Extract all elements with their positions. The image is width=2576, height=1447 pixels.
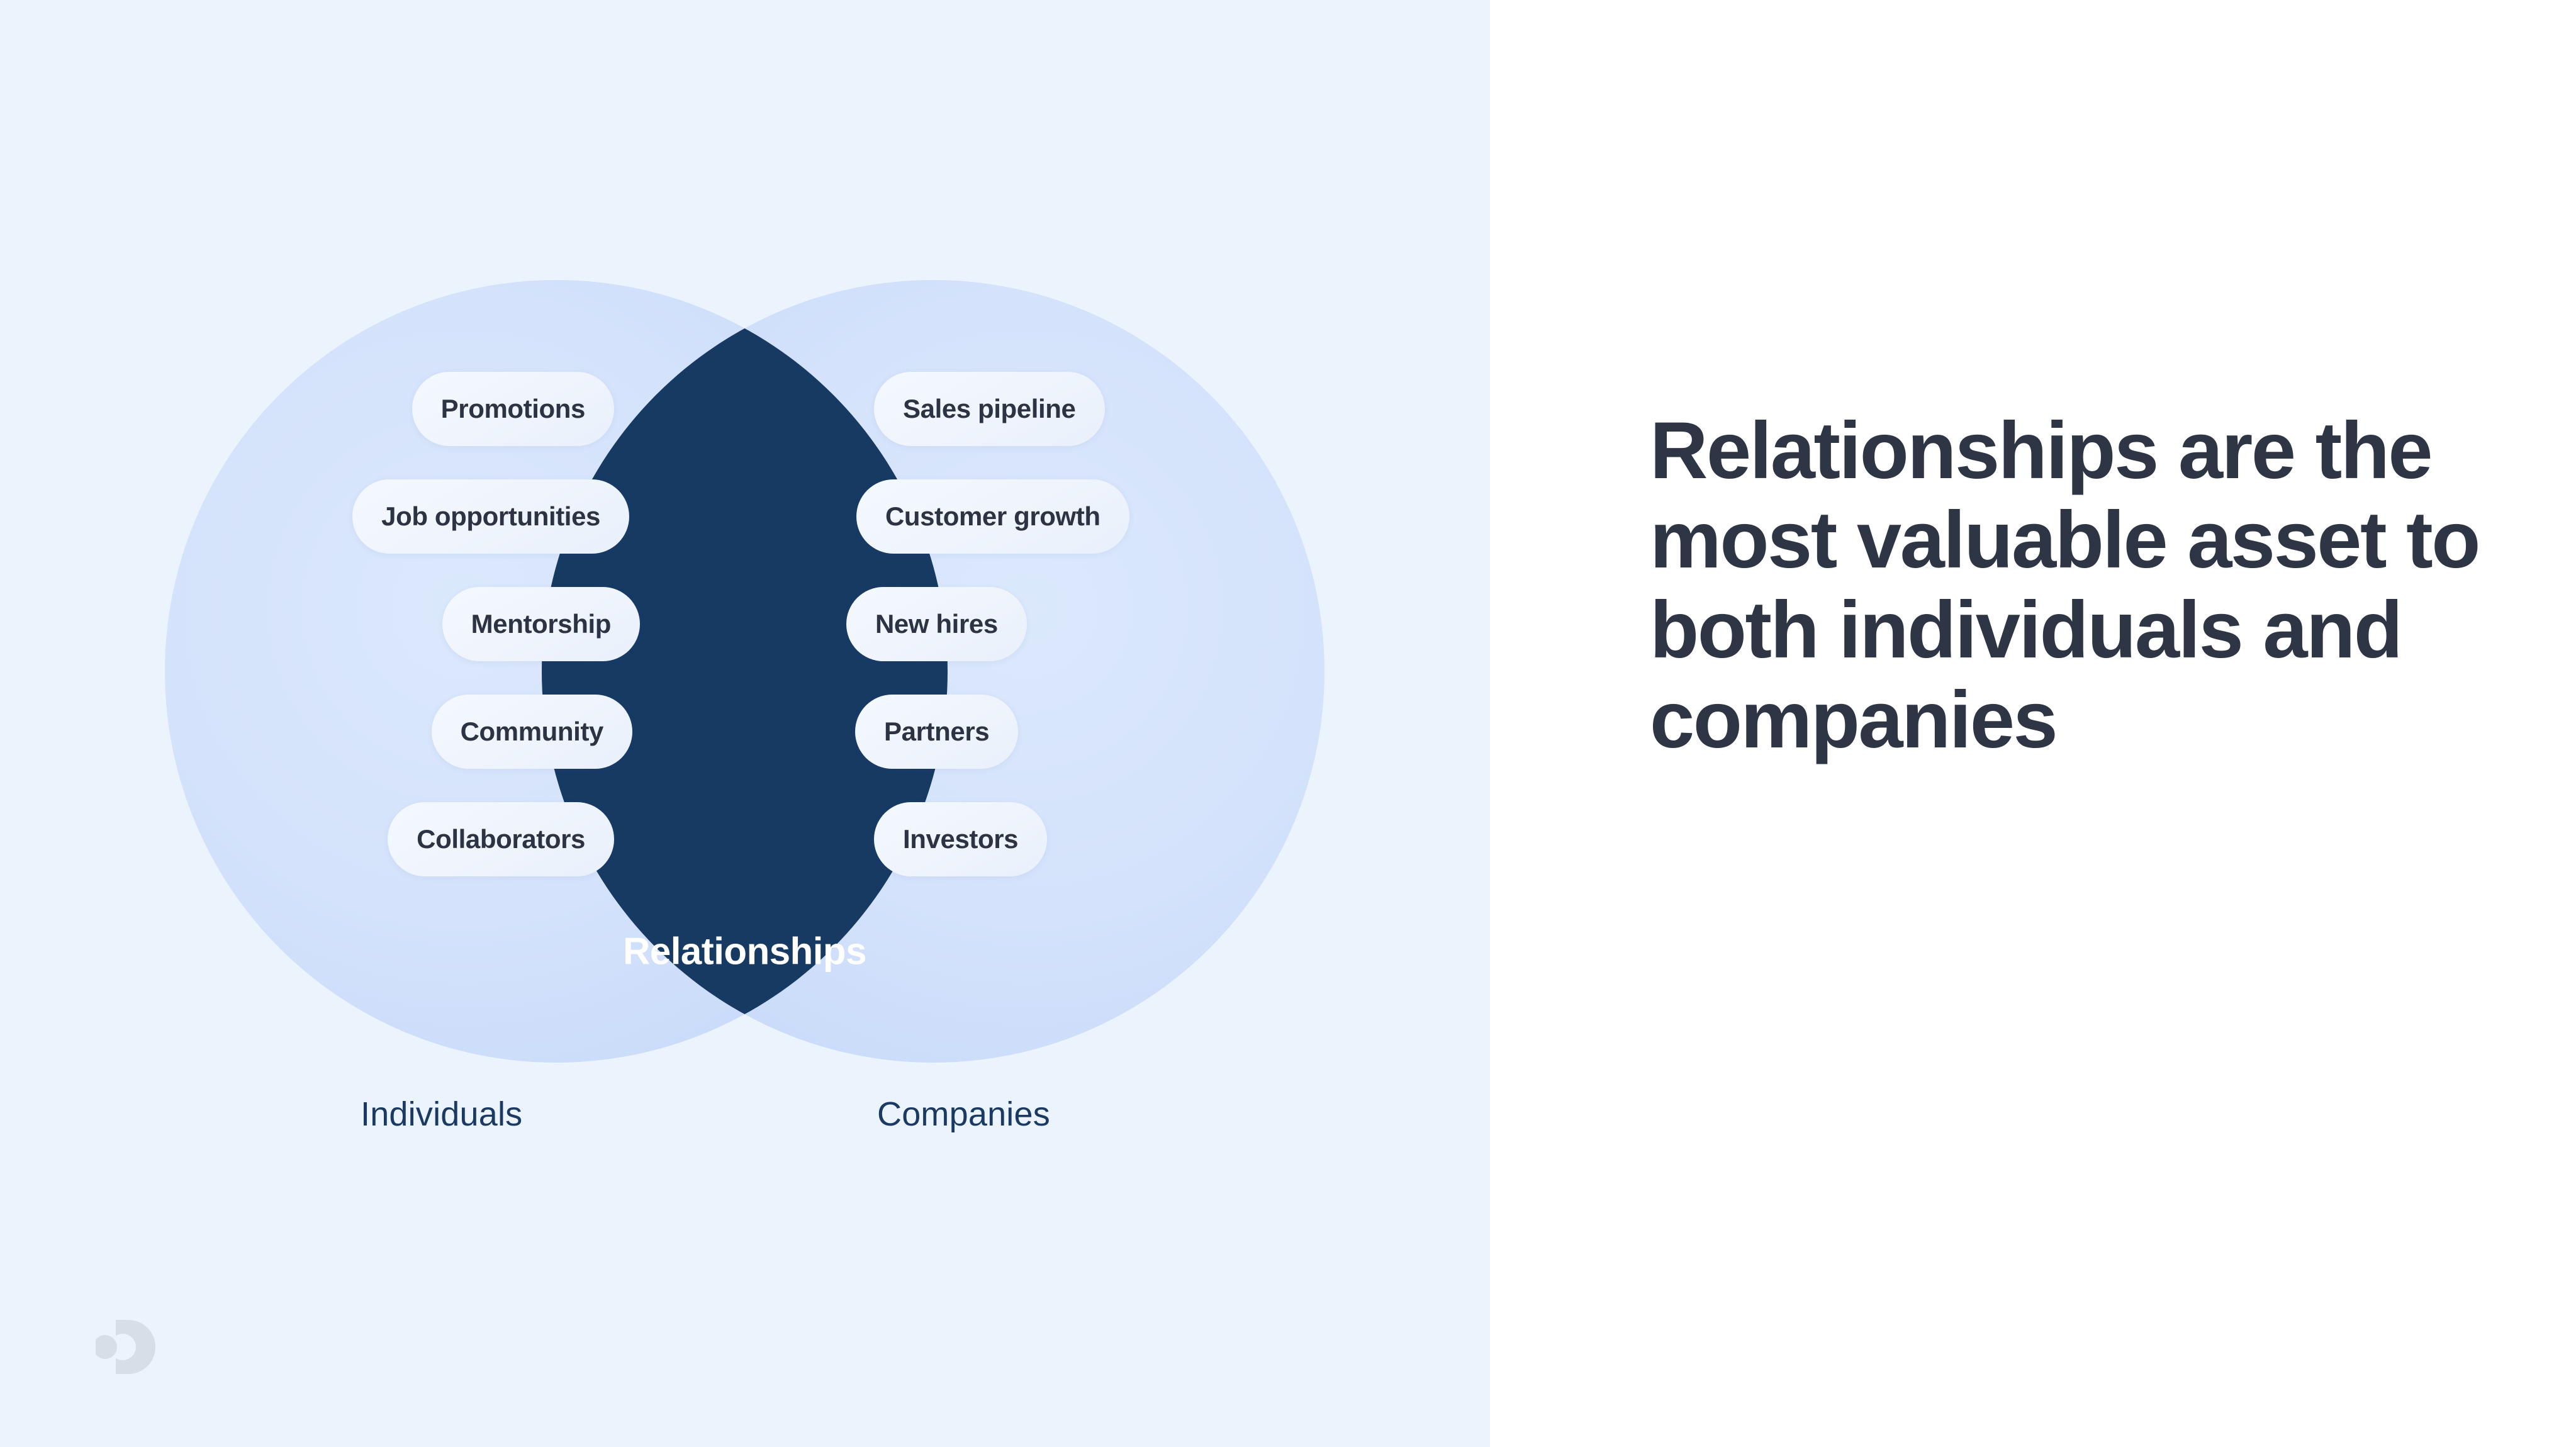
venn-panel: Promotions Job opportunities Mentorship … xyxy=(0,0,1490,1447)
pill-collaborators[interactable]: Collaborators xyxy=(388,802,614,876)
pill-label: Partners xyxy=(884,718,989,745)
headline-panel: Relationships are the most valuable asse… xyxy=(1490,0,2576,1447)
pill-label: Sales pipeline xyxy=(903,396,1076,422)
pill-mentorship[interactable]: Mentorship xyxy=(442,587,640,661)
pill-sales-pipeline[interactable]: Sales pipeline xyxy=(874,372,1105,446)
pill-customer-growth[interactable]: Customer growth xyxy=(856,479,1129,554)
pill-investors[interactable]: Investors xyxy=(874,802,1047,876)
pill-label: Mentorship xyxy=(471,611,611,637)
pill-label: New hires xyxy=(875,611,998,637)
pill-label: Job opportunities xyxy=(381,503,600,530)
venn-center-label: Relationships xyxy=(623,930,866,973)
pill-job-opportunities[interactable]: Job opportunities xyxy=(352,479,629,554)
venn-caption-companies: Companies xyxy=(877,1095,1050,1134)
pill-label: Community xyxy=(461,718,603,745)
pill-partners[interactable]: Partners xyxy=(855,695,1018,769)
pill-label: Customer growth xyxy=(885,503,1100,530)
pill-promotions[interactable]: Promotions xyxy=(412,372,614,446)
page-title: Relationships are the most valuable asse… xyxy=(1650,406,2480,766)
pill-new-hires[interactable]: New hires xyxy=(846,587,1027,661)
pill-community[interactable]: Community xyxy=(432,695,632,769)
pill-label: Promotions xyxy=(441,396,585,422)
venn-caption-individuals: Individuals xyxy=(361,1095,522,1134)
pill-label: Collaborators xyxy=(417,826,585,852)
dots-d-logo xyxy=(96,1320,159,1374)
venn-diagram: Promotions Job opportunities Mentorship … xyxy=(165,280,1324,1063)
slide-root: Promotions Job opportunities Mentorship … xyxy=(0,0,2576,1447)
pill-label: Investors xyxy=(903,826,1018,852)
